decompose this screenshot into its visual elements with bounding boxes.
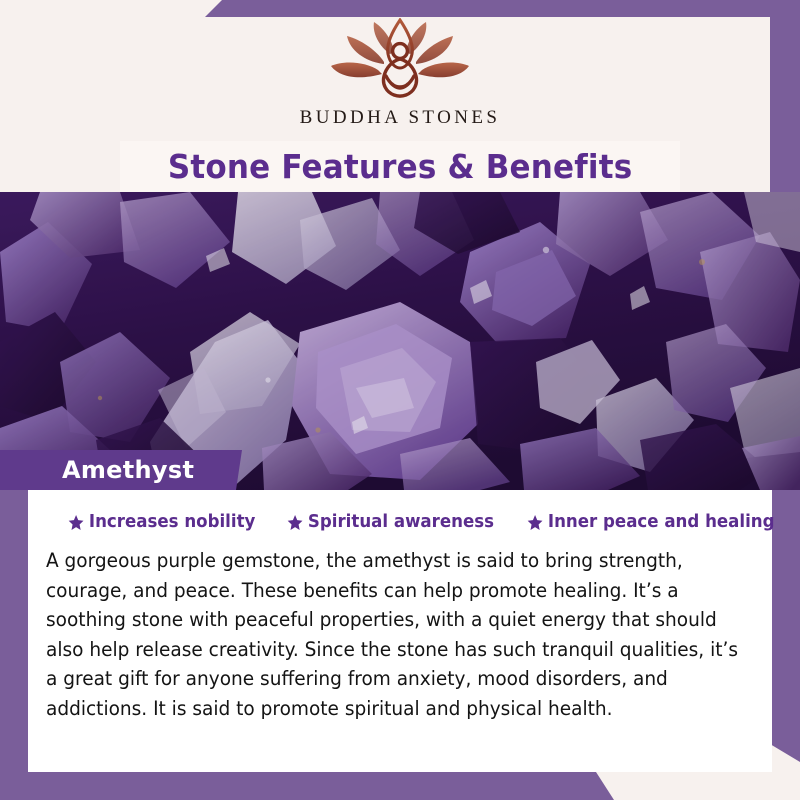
star-icon xyxy=(527,514,543,531)
star-icon xyxy=(287,514,303,531)
benefit-label: Increases nobility xyxy=(89,512,255,532)
benefit-label: Spiritual awareness xyxy=(308,512,494,532)
brand-name: BUDDHA STONES xyxy=(300,107,501,129)
benefit-label: Inner peace and healing xyxy=(548,512,775,532)
benefits-list: Increases nobility Spiritual awareness I… xyxy=(38,512,764,532)
benefit-item: Increases nobility xyxy=(68,512,255,532)
amethyst-crystal-cluster-photo xyxy=(0,192,800,490)
frame-band-bottom xyxy=(0,772,800,800)
frame-band-top xyxy=(0,0,800,17)
star-icon xyxy=(68,514,84,531)
brand-logo: BUDDHA STONES xyxy=(0,18,800,143)
description-panel: Increases nobility Spiritual awareness I… xyxy=(28,490,772,772)
frame-band-left xyxy=(0,489,28,800)
benefit-item: Inner peace and healing xyxy=(527,512,775,532)
stone-name-tag: Amethyst xyxy=(0,450,242,490)
lotus-meditation-figure-icon xyxy=(314,18,486,104)
stone-description: A gorgeous purple gemstone, the amethyst… xyxy=(46,546,753,723)
page-title: Stone Features & Benefits xyxy=(168,147,633,186)
headline-banner: Stone Features & Benefits xyxy=(120,141,680,192)
product-info-card: BUDDHA STONES Stone Features & Benefits xyxy=(0,0,800,800)
crystal-photo-art xyxy=(0,192,800,490)
stone-name-label: Amethyst xyxy=(0,456,194,484)
benefit-item: Spiritual awareness xyxy=(287,512,494,532)
